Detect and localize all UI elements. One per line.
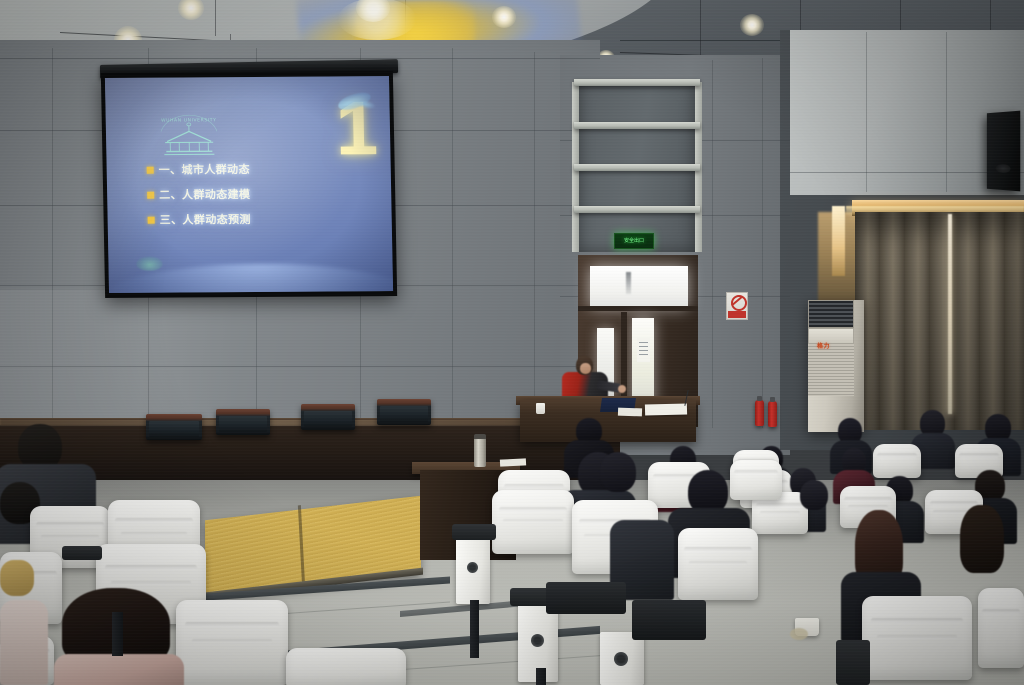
seat-armrest [62,546,102,560]
lecture-hall-photo: 1 WUHAN UNIVERSITY [0,0,1024,685]
seat-leg [112,612,123,656]
auditorium-seat[interactable] [286,648,406,685]
